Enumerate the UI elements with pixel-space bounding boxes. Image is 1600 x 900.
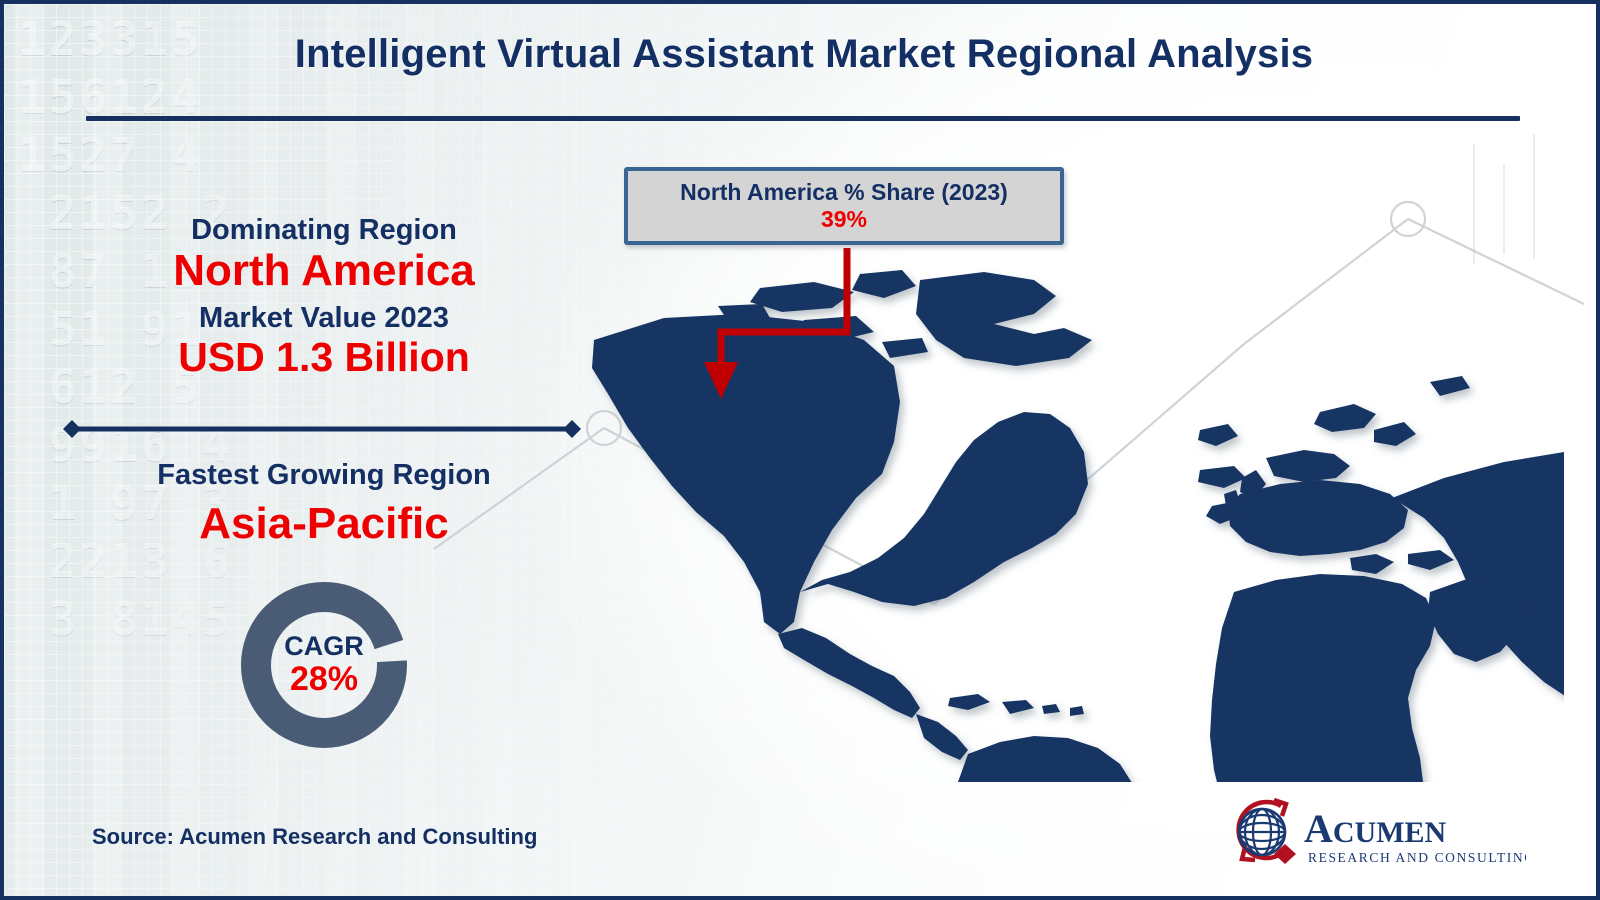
fastest-growing-value: Asia-Pacific: [44, 500, 604, 548]
title-divider-rule: [86, 116, 1520, 121]
market-value-label: Market Value 2023: [44, 302, 604, 335]
market-value-amount: USD 1.3 Billion: [44, 335, 604, 380]
dominating-region-value: North America: [44, 247, 604, 295]
page-title: Intelligent Virtual Assistant Market Reg…: [4, 32, 1600, 77]
dominating-region-label: Dominating Region: [44, 214, 604, 247]
donut-center-text: CAGR 28%: [232, 573, 416, 757]
acumen-logo: ACUMEN RESEARCH AND CONSULTING: [1226, 792, 1526, 874]
logo-tagline: RESEARCH AND CONSULTING: [1308, 850, 1526, 865]
callout-title: North America % Share (2023): [680, 179, 1008, 206]
left-stats-panel: Dominating Region North America Market V…: [44, 214, 604, 380]
fastest-growing-label: Fastest Growing Region: [44, 459, 604, 492]
cagr-donut-chart: CAGR 28%: [232, 573, 416, 757]
callout-arrow: [564, 234, 1564, 534]
north-america-share-callout: North America % Share (2023) 39%: [624, 167, 1064, 245]
infographic-canvas: 123315 156124 1527 4 2152 2 87 13 51 91 …: [0, 0, 1600, 900]
section-divider: [60, 418, 584, 440]
fastest-growing-panel: Fastest Growing Region Asia-Pacific: [44, 459, 604, 549]
callout-value: 39%: [821, 206, 867, 233]
cagr-value: 28%: [290, 662, 358, 698]
logo-wordmark: ACUMEN: [1304, 806, 1447, 851]
cagr-label: CAGR: [284, 632, 364, 660]
source-text: Source: Acumen Research and Consulting: [92, 824, 537, 850]
globe-icon: [1239, 800, 1296, 864]
arrow-head: [704, 362, 738, 399]
divider-diamond-left: [63, 420, 81, 438]
